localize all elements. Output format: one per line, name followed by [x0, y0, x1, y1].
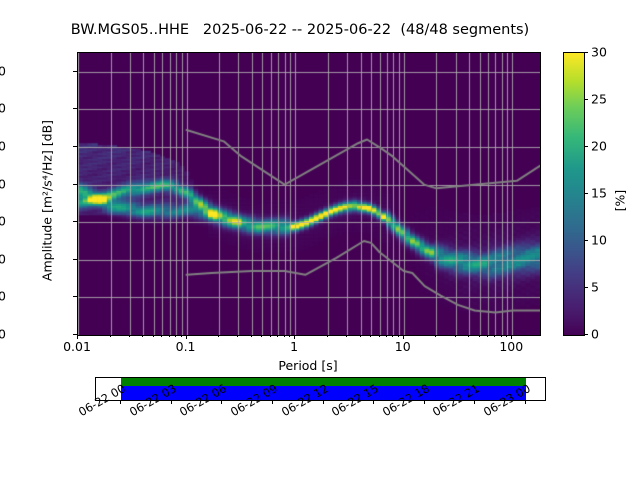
timeline-tick-mark — [323, 400, 324, 404]
x-axis-minor-tick-mark — [110, 335, 111, 337]
x-axis-minor-tick-mark — [218, 335, 219, 337]
colorbar-tick-label: 20 — [591, 139, 607, 154]
colorbar-tick-mark — [584, 99, 588, 100]
colorbar-tick-mark — [584, 240, 588, 241]
x-axis-tick-label: 1 — [290, 339, 298, 354]
timeline-tick-mark — [474, 400, 475, 404]
x-axis-tick-mark — [186, 335, 187, 339]
timeline-tick-mark — [373, 400, 374, 404]
y-axis-tick-mark — [73, 296, 77, 297]
y-axis-tick-mark — [73, 259, 77, 260]
x-axis-tick-mark — [77, 335, 78, 339]
timeline-tick-mark — [171, 400, 172, 404]
x-axis-minor-tick-mark — [237, 335, 238, 337]
x-axis-minor-tick-mark — [327, 335, 328, 337]
y-axis-tick-mark — [73, 146, 77, 147]
colorbar — [563, 52, 585, 336]
ppsd-figure: BW.MGS05..HHE 2025-06-22 -- 2025-06-22 (… — [0, 0, 640, 480]
x-axis-minor-tick-mark — [501, 335, 502, 337]
x-axis-minor-tick-mark — [261, 335, 262, 337]
timeline-tick-mark — [120, 400, 121, 404]
x-axis-tick-mark — [403, 335, 404, 339]
y-axis-tick-label: −160 — [0, 251, 6, 266]
colorbar-tick-mark — [584, 334, 588, 335]
x-axis-minor-tick-mark — [181, 335, 182, 337]
x-axis-minor-tick-mark — [346, 335, 347, 337]
x-axis-minor-tick-mark — [494, 335, 495, 337]
y-axis-label: Amplitude [m²/s⁴/Hz] [dB] — [40, 60, 55, 342]
y-axis-tick-label: −140 — [0, 214, 6, 229]
x-axis-minor-tick-mark — [153, 335, 154, 337]
x-axis-minor-tick-mark — [370, 335, 371, 337]
colorbar-tick-label: 0 — [591, 327, 599, 342]
x-axis-tick-label: 0.01 — [63, 339, 91, 354]
y-axis-tick-mark — [73, 71, 77, 72]
page-title: BW.MGS05..HHE 2025-06-22 -- 2025-06-22 (… — [0, 22, 600, 38]
x-axis-minor-tick-mark — [175, 335, 176, 337]
y-axis-tick-label: −200 — [0, 327, 6, 342]
timeline-tick-mark — [221, 400, 222, 404]
ppsd-density-canvas — [78, 53, 540, 335]
y-axis-tick-label: −180 — [0, 289, 6, 304]
timeline-tick-mark — [424, 400, 425, 404]
colorbar-tick-label: 30 — [591, 45, 607, 60]
x-axis-minor-tick-mark — [379, 335, 380, 337]
x-axis-minor-tick-mark — [161, 335, 162, 337]
x-axis-minor-tick-mark — [277, 335, 278, 337]
colorbar-label: [%] — [613, 181, 628, 221]
x-axis-minor-tick-mark — [468, 335, 469, 337]
x-axis-minor-tick-mark — [398, 335, 399, 337]
x-axis-minor-tick-mark — [270, 335, 271, 337]
x-axis-minor-tick-mark — [506, 335, 507, 337]
colorbar-tick-label: 10 — [591, 233, 607, 248]
ppsd-plot-area — [77, 52, 541, 336]
timeline-tick-mark — [525, 400, 526, 404]
colorbar-tick-mark — [584, 193, 588, 194]
x-axis-minor-tick-mark — [479, 335, 480, 337]
x-axis-minor-tick-mark — [169, 335, 170, 337]
colorbar-tick-mark — [584, 52, 588, 53]
x-axis-minor-tick-mark — [360, 335, 361, 337]
x-axis-minor-tick-mark — [284, 335, 285, 337]
x-axis-minor-tick-mark — [129, 335, 130, 337]
y-axis-tick-label: −80 — [0, 101, 6, 116]
colorbar-tick-mark — [584, 146, 588, 147]
colorbar-tick-mark — [584, 287, 588, 288]
colorbar-tick-label: 5 — [591, 280, 599, 295]
x-axis-tick-label: 10 — [395, 339, 411, 354]
y-axis-tick-label: −100 — [0, 139, 6, 154]
x-axis-tick-mark — [294, 335, 295, 339]
y-axis-tick-mark — [73, 221, 77, 222]
colorbar-tick-label: 25 — [591, 92, 607, 107]
x-axis-minor-tick-mark — [435, 335, 436, 337]
x-axis-label: Period [s] — [77, 358, 539, 373]
x-axis-tick-label: 100 — [499, 339, 523, 354]
x-axis-minor-tick-mark — [487, 335, 488, 337]
y-axis-tick-mark — [73, 108, 77, 109]
y-axis-tick-label: −60 — [0, 63, 6, 78]
y-axis-tick-mark — [73, 184, 77, 185]
x-axis-tick-mark — [511, 335, 512, 339]
timeline-tick-mark — [272, 400, 273, 404]
x-axis-minor-tick-mark — [392, 335, 393, 337]
x-axis-minor-tick-mark — [455, 335, 456, 337]
x-axis-minor-tick-mark — [386, 335, 387, 337]
x-axis-tick-label: 0.1 — [176, 339, 196, 354]
x-axis-minor-tick-mark — [289, 335, 290, 337]
colorbar-tick-label: 15 — [591, 186, 607, 201]
y-axis-tick-label: −120 — [0, 176, 6, 191]
x-axis-minor-tick-mark — [251, 335, 252, 337]
x-axis-minor-tick-mark — [142, 335, 143, 337]
